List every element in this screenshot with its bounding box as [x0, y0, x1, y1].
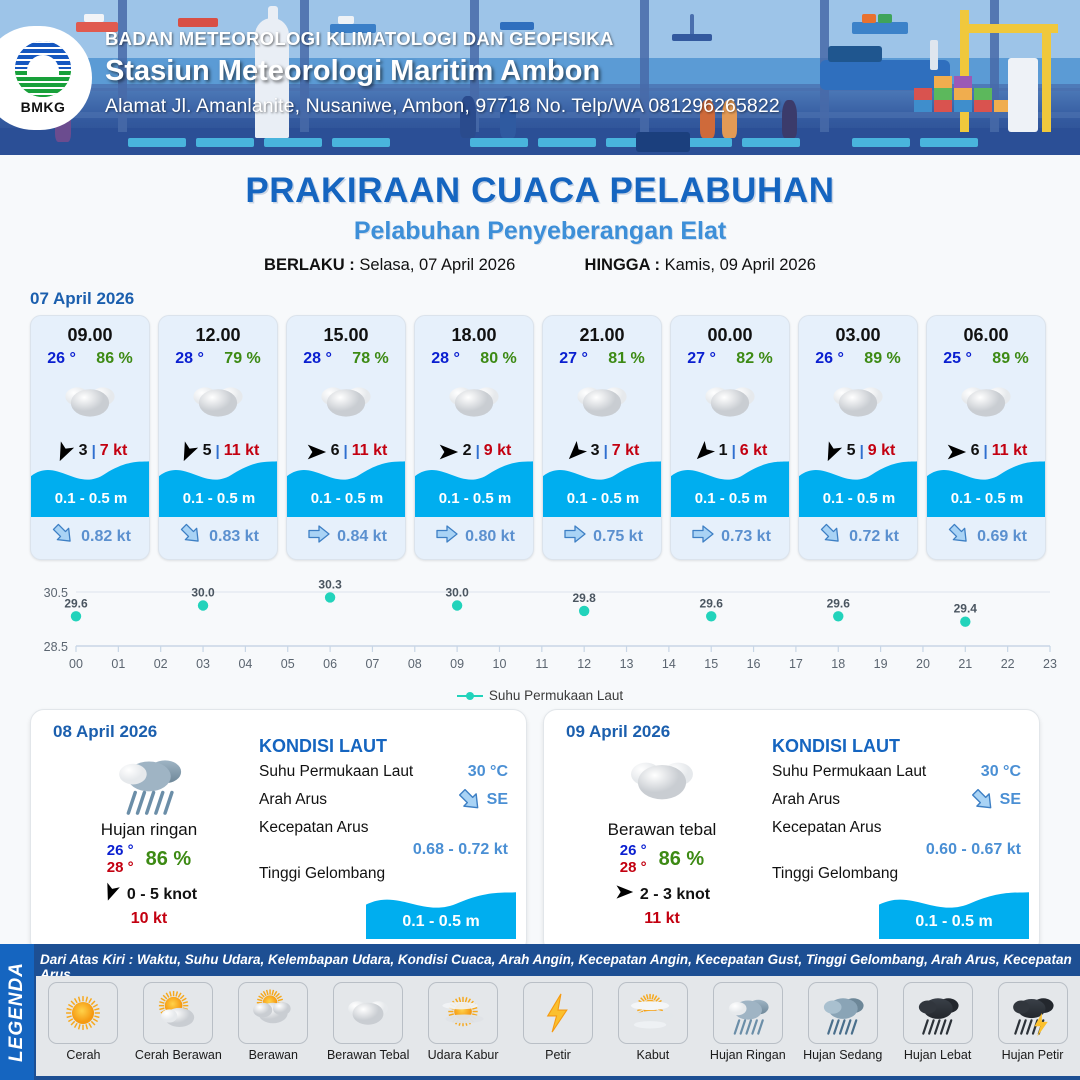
hourly-current: 0.82 kt — [31, 522, 150, 551]
current-direction-icon — [435, 522, 459, 551]
daily-wave-band: 0.1 - 0.5 m — [879, 887, 1029, 939]
daily-wind: 0 - 5 knot — [49, 882, 249, 907]
svg-text:02: 02 — [154, 657, 168, 671]
weather-berawan-icon — [238, 982, 308, 1044]
valid-from-value: Selasa, 07 April 2026 — [359, 256, 515, 274]
hourly-card[interactable]: 18.0028 °80 %2|9 kt0.1 - 0.5 m0.80 kt — [414, 315, 534, 560]
current-speed: 0.75 kt — [593, 528, 643, 546]
legend-side-title: LEGENDA — [0, 944, 34, 1080]
hourly-time: 12.00 — [159, 325, 277, 346]
wave-height: 0.1 - 0.5 m — [799, 490, 918, 507]
daily-forecast-row: 08 April 2026Hujan ringan26 °28 °86 %0 -… — [0, 703, 1080, 954]
daily-left: 08 April 2026Hujan ringan26 °28 °86 %0 -… — [49, 722, 249, 928]
daily-date: 08 April 2026 — [53, 722, 249, 742]
hourly-values: 27 °82 % — [671, 350, 789, 368]
hourly-humidity: 79 % — [224, 350, 260, 368]
page-header: BMKG BADAN METEOROLOGI KLIMATOLOGI DAN G… — [0, 0, 1080, 155]
weather-hujan-ringan-icon — [713, 982, 783, 1044]
svg-text:11: 11 — [535, 657, 548, 671]
hourly-values: 26 °86 % — [31, 350, 149, 368]
legend-item-label: Cerah — [39, 1048, 127, 1062]
wind-direction-icon — [101, 882, 121, 907]
daily-wave-value: 0.1 - 0.5 m — [366, 913, 516, 931]
current-direction-text: SE — [487, 791, 508, 809]
svg-text:08: 08 — [408, 657, 422, 671]
daily-condition: Hujan ringan — [49, 820, 249, 840]
wave-band: 0.1 - 0.5 m — [415, 455, 534, 517]
legend-item: Hujan Petir — [989, 982, 1077, 1062]
hourly-time: 18.00 — [415, 325, 533, 346]
hourly-values: 26 °89 % — [799, 350, 917, 368]
legend-item: Berawan — [229, 982, 317, 1062]
current-direction-row: Arah ArusSE — [772, 791, 1027, 819]
svg-text:16: 16 — [747, 657, 761, 671]
svg-text:20: 20 — [916, 657, 930, 671]
sea-conditions: KONDISI LAUTSuhu Permukaan Laut30 °CArah… — [259, 736, 514, 893]
hourly-temp: 28 ° — [431, 350, 460, 368]
daily-condition: Berawan tebal — [562, 820, 762, 840]
hourly-current: 0.84 kt — [287, 522, 406, 551]
weather-berawan-tebal-icon — [333, 982, 403, 1044]
hourly-humidity: 82 % — [736, 350, 772, 368]
wave-height-label: Tinggi Gelombang — [259, 865, 385, 882]
hourly-humidity: 86 % — [96, 350, 132, 368]
current-direction-icon — [307, 522, 331, 551]
svg-text:13: 13 — [620, 657, 634, 671]
svg-text:29.4: 29.4 — [954, 602, 978, 616]
wave-height-label: Tinggi Gelombang — [772, 865, 898, 882]
hourly-date-label: 07 April 2026 — [30, 289, 1080, 309]
hourly-temp: 25 ° — [943, 350, 972, 368]
hourly-values: 28 °78 % — [287, 350, 405, 368]
current-speed: 0.73 kt — [721, 528, 771, 546]
agency-name: BADAN METEOROLOGI KLIMATOLOGI DAN GEOFIS… — [105, 28, 780, 50]
hourly-card[interactable]: 12.0028 °79 %5|11 kt0.1 - 0.5 m0.83 kt — [158, 315, 278, 560]
current-direction-icon — [819, 522, 843, 551]
svg-text:29.6: 29.6 — [64, 596, 88, 610]
wave-band: 0.1 - 0.5 m — [543, 455, 662, 517]
current-speed: 0.69 kt — [977, 528, 1027, 546]
current-direction-label: Arah Arus — [772, 791, 840, 808]
wave-band: 0.1 - 0.5 m — [287, 455, 406, 517]
svg-text:29.6: 29.6 — [827, 596, 851, 610]
daily-wind-speed: 0 - 5 knot — [127, 886, 197, 904]
current-speed-row: Kecepatan Arus0.60 - 0.67 kt — [772, 819, 1027, 847]
hourly-values: 28 °80 % — [415, 350, 533, 368]
current-speed-value: 0.68 - 0.72 kt — [413, 841, 508, 859]
legend-item-label: Hujan Lebat — [894, 1048, 982, 1062]
svg-text:05: 05 — [281, 657, 295, 671]
legend-item: Kabut — [609, 982, 697, 1062]
legend-item-label: Petir — [514, 1048, 602, 1062]
hourly-humidity: 89 % — [864, 350, 900, 368]
hourly-forecast-row: 09.0026 °86 %3|7 kt0.1 - 0.5 m0.82 kt12.… — [0, 315, 1080, 560]
wave-height: 0.1 - 0.5 m — [927, 490, 1046, 507]
current-speed-row: Kecepatan Arus0.68 - 0.72 kt — [259, 819, 514, 847]
daily-wind: 2 - 3 knot — [562, 882, 762, 907]
hourly-time: 00.00 — [671, 325, 789, 346]
svg-text:03: 03 — [196, 657, 210, 671]
legend-marker-icon — [457, 691, 483, 701]
current-speed: 0.80 kt — [465, 528, 515, 546]
svg-text:29.8: 29.8 — [572, 591, 596, 605]
current-direction-icon — [947, 522, 971, 551]
current-speed: 0.83 kt — [209, 528, 259, 546]
hourly-card[interactable]: 09.0026 °86 %3|7 kt0.1 - 0.5 m0.82 kt — [30, 315, 150, 560]
legend-item-label: Cerah Berawan — [134, 1048, 222, 1062]
legend-item: Hujan Lebat — [894, 982, 982, 1062]
legend-item-label: Hujan Petir — [989, 1048, 1077, 1062]
weather-berawan-tebal-icon — [287, 371, 405, 433]
daily-forecast-panel[interactable]: 08 April 2026Hujan ringan26 °28 °86 %0 -… — [30, 709, 527, 954]
weather-cerah-berawan-icon — [143, 982, 213, 1044]
weather-hujan-petir-icon — [998, 982, 1068, 1044]
svg-text:10: 10 — [493, 657, 507, 671]
wave-band: 0.1 - 0.5 m — [927, 455, 1046, 517]
daily-wind-gust: 10 kt — [49, 910, 249, 928]
svg-text:30.3: 30.3 — [318, 577, 342, 591]
legend-item: Hujan Ringan — [704, 982, 792, 1062]
wave-band: 0.1 - 0.5 m — [671, 455, 790, 517]
station-name: Stasiun Meteorologi Maritim Ambon — [105, 55, 780, 88]
current-speed-label: Kecepatan Arus — [259, 819, 368, 836]
hourly-current: 0.80 kt — [415, 522, 534, 551]
legend-item: Cerah — [39, 982, 127, 1062]
current-direction-text: SE — [1000, 791, 1021, 809]
valid-until-value: Kamis, 09 April 2026 — [665, 256, 816, 274]
daily-date: 09 April 2026 — [566, 722, 762, 742]
chart-legend-label: Suhu Permukaan Laut — [489, 688, 623, 703]
svg-text:07: 07 — [365, 657, 379, 671]
weather-kabut-icon — [618, 982, 688, 1044]
wave-height: 0.1 - 0.5 m — [543, 490, 662, 507]
legend-item-label: Berawan — [229, 1048, 317, 1062]
weather-berawan-tebal-icon — [31, 371, 149, 433]
hourly-humidity: 89 % — [992, 350, 1028, 368]
sea-conditions: KONDISI LAUTSuhu Permukaan Laut30 °CArah… — [772, 736, 1027, 893]
weather-berawan-tebal-icon — [562, 744, 762, 818]
hourly-temp: 28 ° — [175, 350, 204, 368]
hourly-time: 03.00 — [799, 325, 917, 346]
header-text-block: BADAN METEOROLOGI KLIMATOLOGI DAN GEOFIS… — [105, 28, 780, 118]
current-direction-icon — [179, 522, 203, 551]
legend-item-label: Hujan Ringan — [704, 1048, 792, 1062]
sst-chart: 30.528.500010203040506070809101112131415… — [20, 574, 1060, 684]
current-speed: 0.72 kt — [849, 528, 899, 546]
hourly-card[interactable]: 21.0027 °81 %3|7 kt0.1 - 0.5 m0.75 kt — [542, 315, 662, 560]
daily-wind-speed: 2 - 3 knot — [640, 886, 710, 904]
svg-text:09: 09 — [450, 657, 464, 671]
svg-text:30.0: 30.0 — [445, 586, 469, 600]
hourly-card[interactable]: 03.0026 °89 %5|9 kt0.1 - 0.5 m0.72 kt — [798, 315, 918, 560]
hourly-time: 09.00 — [31, 325, 149, 346]
legend-item: Berawan Tebal — [324, 982, 412, 1062]
daily-temp-max: 28 ° — [620, 859, 647, 876]
svg-text:19: 19 — [874, 657, 888, 671]
current-direction-icon — [691, 522, 715, 551]
weather-berawan-tebal-icon — [927, 371, 1045, 433]
hourly-temp: 26 ° — [815, 350, 844, 368]
daily-forecast-panel[interactable]: 09 April 2026Berawan tebal26 °28 °86 %2 … — [543, 709, 1040, 954]
hourly-time: 21.00 — [543, 325, 661, 346]
sst-value: 30 °C — [981, 763, 1021, 781]
daily-wave-value: 0.1 - 0.5 m — [879, 913, 1029, 931]
hourly-card[interactable]: 06.0025 °89 %6|11 kt0.1 - 0.5 m0.69 kt — [926, 315, 1046, 560]
legend-side-title-text: LEGENDA — [6, 962, 28, 1062]
current-direction-value: SE — [970, 787, 1021, 813]
wave-band: 0.1 - 0.5 m — [799, 455, 918, 517]
svg-text:00: 00 — [69, 657, 83, 671]
current-direction-icon — [51, 522, 75, 551]
valid-from-label: BERLAKU : — [264, 256, 355, 274]
svg-text:30.0: 30.0 — [191, 586, 215, 600]
current-direction-label: Arah Arus — [259, 791, 327, 808]
station-address: Alamat Jl. Amanlanite, Nusaniwe, Ambon, … — [105, 95, 780, 118]
hourly-humidity: 81 % — [608, 350, 644, 368]
sea-conditions-heading: KONDISI LAUT — [772, 736, 1027, 757]
current-speed-value: 0.60 - 0.67 kt — [926, 841, 1021, 859]
weather-hujan-sedang-icon — [808, 982, 878, 1044]
hourly-humidity: 80 % — [480, 350, 516, 368]
hourly-temp: 28 ° — [303, 350, 332, 368]
bmkg-logo-text: BMKG — [21, 99, 66, 115]
daily-wind-gust: 11 kt — [562, 910, 762, 928]
wave-height: 0.1 - 0.5 m — [159, 490, 278, 507]
daily-humidity: 86 % — [146, 848, 192, 871]
daily-temp-max: 28 ° — [107, 859, 134, 876]
weather-berawan-tebal-icon — [543, 371, 661, 433]
page-subtitle: Pelabuhan Penyeberangan Elat — [0, 217, 1080, 246]
legend-item-label: Berawan Tebal — [324, 1048, 412, 1062]
bmkg-logo-icon — [15, 41, 71, 97]
hourly-current: 0.83 kt — [159, 522, 278, 551]
hourly-values: 27 °81 % — [543, 350, 661, 368]
daily-temp-min: 26 ° — [107, 842, 134, 859]
sst-value: 30 °C — [468, 763, 508, 781]
weather-hujan-ringan-icon — [49, 744, 249, 818]
title-block: PRAKIRAAN CUACA PELABUHAN Pelabuhan Peny… — [0, 171, 1080, 275]
weather-berawan-tebal-icon — [159, 371, 277, 433]
legend-item-label: Hujan Sedang — [799, 1048, 887, 1062]
chart-legend: Suhu Permukaan Laut — [0, 688, 1080, 703]
sea-conditions-heading: KONDISI LAUT — [259, 736, 514, 757]
daily-left: 09 April 2026Berawan tebal26 °28 °86 %2 … — [562, 722, 762, 928]
current-speed-label: Kecepatan Arus — [772, 819, 881, 836]
svg-text:14: 14 — [662, 657, 676, 671]
hourly-temp: 27 ° — [687, 350, 716, 368]
svg-text:15: 15 — [704, 657, 718, 671]
valid-until-label: HINGGA : — [585, 256, 660, 274]
weather-petir-icon — [523, 982, 593, 1044]
sst-label: Suhu Permukaan Laut — [772, 763, 926, 780]
hourly-card[interactable]: 15.0028 °78 %6|11 kt0.1 - 0.5 m0.84 kt — [286, 315, 406, 560]
weather-berawan-tebal-icon — [671, 371, 789, 433]
page-title: PRAKIRAAN CUACA PELABUHAN — [0, 171, 1080, 211]
wind-direction-icon — [614, 882, 634, 907]
weather-berawan-tebal-icon — [415, 371, 533, 433]
legend-item-label: Udara Kabur — [419, 1048, 507, 1062]
current-direction-row: Arah ArusSE — [259, 791, 514, 819]
legend-item: Hujan Sedang — [799, 982, 887, 1062]
wave-height: 0.1 - 0.5 m — [287, 490, 406, 507]
svg-text:18: 18 — [831, 657, 845, 671]
hourly-current: 0.69 kt — [927, 522, 1046, 551]
current-direction-icon — [563, 522, 587, 551]
legend-item: Petir — [514, 982, 602, 1062]
legend-bar: LEGENDA Dari Atas Kiri : Waktu, Suhu Uda… — [0, 944, 1080, 1080]
current-speed: 0.82 kt — [81, 528, 131, 546]
current-speed: 0.84 kt — [337, 528, 387, 546]
daily-humidity: 86 % — [659, 848, 705, 871]
daily-temp-hum: 26 °28 °86 % — [562, 842, 762, 876]
wave-height: 0.1 - 0.5 m — [415, 490, 534, 507]
daily-wave-band: 0.1 - 0.5 m — [366, 887, 516, 939]
hourly-current: 0.75 kt — [543, 522, 662, 551]
svg-text:06: 06 — [323, 657, 337, 671]
weather-berawan-tebal-icon — [799, 371, 917, 433]
svg-text:23: 23 — [1043, 657, 1057, 671]
svg-text:28.5: 28.5 — [44, 640, 68, 654]
hourly-time: 06.00 — [927, 325, 1045, 346]
svg-text:21: 21 — [958, 657, 972, 671]
legend-item-label: Kabut — [609, 1048, 697, 1062]
svg-text:17: 17 — [789, 657, 803, 671]
sst-label: Suhu Permukaan Laut — [259, 763, 413, 780]
legend-item: Cerah Berawan — [134, 982, 222, 1062]
hourly-temp: 26 ° — [47, 350, 76, 368]
svg-text:04: 04 — [238, 657, 252, 671]
hourly-current: 0.73 kt — [671, 522, 790, 551]
hourly-values: 25 °89 % — [927, 350, 1045, 368]
weather-cerah-icon — [48, 982, 118, 1044]
svg-text:12: 12 — [577, 657, 591, 671]
wave-band: 0.1 - 0.5 m — [31, 455, 150, 517]
svg-text:29.6: 29.6 — [700, 596, 724, 610]
wave-band: 0.1 - 0.5 m — [159, 455, 278, 517]
svg-text:22: 22 — [1001, 657, 1015, 671]
daily-temp-min: 26 ° — [620, 842, 647, 859]
wave-height: 0.1 - 0.5 m — [31, 490, 150, 507]
weather-hujan-lebat-icon — [903, 982, 973, 1044]
hourly-current: 0.72 kt — [799, 522, 918, 551]
hourly-humidity: 78 % — [352, 350, 388, 368]
hourly-time: 15.00 — [287, 325, 405, 346]
hourly-temp: 27 ° — [559, 350, 588, 368]
weather-udara-kabur-icon — [428, 982, 498, 1044]
legend-item: Udara Kabur — [419, 982, 507, 1062]
current-direction-value: SE — [457, 787, 508, 813]
svg-text:01: 01 — [111, 657, 125, 671]
validity-range: BERLAKU : Selasa, 07 April 2026 HINGGA :… — [0, 256, 1080, 275]
legend-items: CerahCerah BerawanBerawanBerawan TebalUd… — [36, 976, 1080, 1076]
hourly-values: 28 °79 % — [159, 350, 277, 368]
daily-temp-hum: 26 °28 °86 % — [49, 842, 249, 876]
hourly-card[interactable]: 00.0027 °82 %1|6 kt0.1 - 0.5 m0.73 kt — [670, 315, 790, 560]
wave-height: 0.1 - 0.5 m — [671, 490, 790, 507]
